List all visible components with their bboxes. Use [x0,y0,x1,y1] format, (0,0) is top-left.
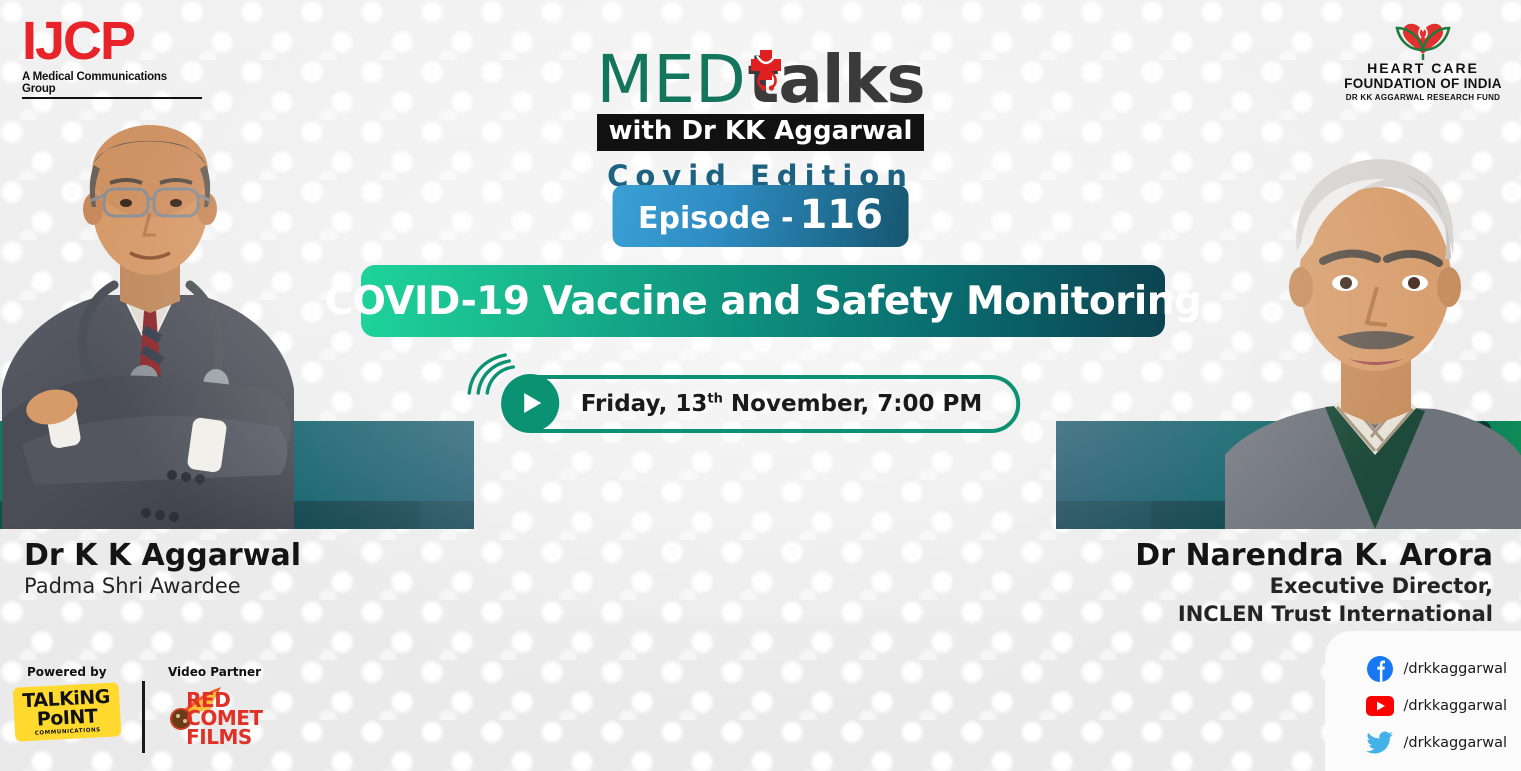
poster-canvas: IJCP A Medical Communications Group HEAR… [0,0,1521,771]
youtube-icon[interactable] [1366,692,1394,720]
schedule-pill-wrap: Friday, 13th November, 7:00 PM [501,375,1021,433]
sponsor-divider [142,681,145,753]
speaker-block-right: Dr Narendra K. Arora Executive Director,… [1135,538,1493,628]
medtalks-logo: MEDtalks with Dr KK Aggarwal Covid Editi… [551,44,971,193]
speaker-photo-left [0,89,324,529]
youtube-handle: /drkkaggarwal [1403,698,1507,714]
facebook-icon[interactable] [1366,655,1394,683]
stethoscope-cross-icon [743,46,789,92]
video-partner-label: Video Partner [167,665,263,679]
host-bar-wrap: with Dr KK Aggarwal [551,116,971,151]
hcfi-line-2: FOUNDATION OF INDIA [1343,76,1503,91]
hcfi-logo: HEART CARE FOUNDATION OF INDIA DR KK AGG… [1343,10,1503,102]
speaker-role-line-1: Executive Director, [1135,573,1493,600]
video-partner-block: Video Partner RED COMET FILMS [167,665,263,755]
schedule-pill: Friday, 13th November, 7:00 PM [501,375,1021,433]
play-triangle [524,393,541,413]
speaker-role-line-2: INCLEN Trust International [1135,601,1493,628]
episode-badge: Episode -116 [612,185,909,247]
speaker-name: Dr Narendra K. Arora [1135,538,1493,573]
page-title: COVID-19 Vaccine and Safety Monitoring [325,279,1202,324]
sponsor-strip: Powered by TALKiNG PoINT COMMUNICATIONS … [14,665,263,755]
med-word: MED [596,41,745,118]
hcfi-heart-flower-icon [1343,10,1503,60]
schedule-text: Friday, 13th November, 7:00 PM [581,391,983,417]
ijcp-wordmark: IJCP [22,14,202,68]
episode-label: Episode - [638,201,793,236]
ijcp-logo: IJCP A Medical Communications Group [22,14,202,99]
powered-by-label: Powered by [14,665,120,679]
host-bar-label: with Dr KK Aggarwal [597,114,925,151]
talking-point-logo: TALKiNG PoINT COMMUNICATIONS [13,682,121,741]
social-panel: /drkkaggarwal /drkkaggarwal /drkkag [1325,631,1521,771]
twitter-handle: /drkkaggarwal [1403,735,1507,751]
facebook-handle: /drkkaggarwal [1403,661,1507,677]
ijcp-tagline: A Medical Communications Group [22,71,202,99]
episode-number: 116 [799,192,883,238]
speaker-photo-right [1225,119,1521,529]
speaker-role: Padma Shri Awardee [24,573,301,600]
play-icon[interactable] [501,374,559,432]
social-links: /drkkaggarwal /drkkaggarwal /drkkag [1366,655,1507,757]
speaker-name: Dr K K Aggarwal [24,538,301,573]
twitter-icon[interactable] [1366,729,1394,757]
red-comet-wordmark: RED COMET FILMS [186,691,262,746]
powered-by-block: Powered by TALKiNG PoINT COMMUNICATIONS [14,665,120,739]
social-link-twitter[interactable]: /drkkaggarwal [1366,729,1507,757]
red-comet-line-3: FILMS [186,728,262,746]
speaker-block-left: Dr K K Aggarwal Padma Shri Awardee [24,538,301,601]
red-comet-films-logo: RED COMET FILMS [167,685,263,755]
medtalks-wordmark-row: MEDtalks [551,44,971,116]
social-link-facebook[interactable]: /drkkaggarwal [1366,655,1507,683]
hcfi-line-3: DR KK AGGARWAL RESEARCH FUND [1343,93,1503,102]
social-link-youtube[interactable]: /drkkaggarwal [1366,692,1507,720]
talk-title-bar: COVID-19 Vaccine and Safety Monitoring [361,265,1165,337]
hcfi-line-1: HEART CARE [1343,60,1503,76]
